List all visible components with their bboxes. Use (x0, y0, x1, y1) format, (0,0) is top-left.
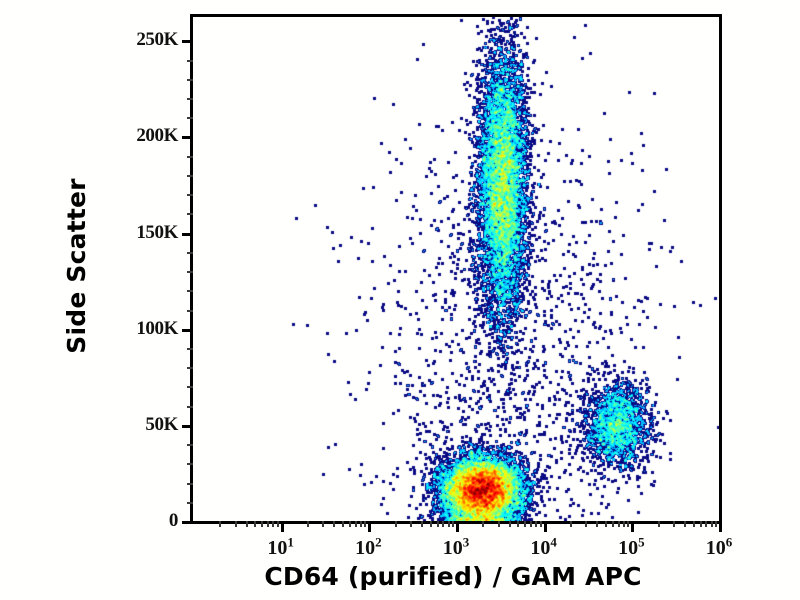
y-tick-minor (187, 98, 193, 100)
x-tick-minor (596, 521, 598, 527)
x-tick-minor (410, 521, 412, 527)
x-tick-minor (711, 521, 713, 527)
x-tick-minor (349, 521, 351, 527)
x-tick-minor (277, 521, 279, 527)
y-tick-label: 200K (136, 125, 178, 147)
y-tick-major (182, 136, 193, 139)
x-tick-minor (482, 521, 484, 527)
y-tick-major (182, 233, 193, 236)
x-tick-minor (715, 521, 717, 527)
x-tick-mantissa: 10 (355, 537, 375, 559)
y-tick-major (182, 521, 193, 524)
x-tick-minor (693, 521, 695, 527)
y-tick-minor (187, 60, 193, 62)
x-tick-minor (267, 521, 269, 527)
y-tick-minor (187, 213, 193, 215)
x-tick-minor (442, 521, 444, 527)
x-tick-major (456, 521, 459, 532)
x-tick-label: 102 (355, 537, 382, 560)
x-tick-major (719, 521, 722, 532)
y-tick-major (182, 425, 193, 428)
x-tick-minor (684, 521, 686, 527)
x-tick-minor (517, 521, 519, 527)
x-tick-minor (605, 521, 607, 527)
y-tick-major (182, 40, 193, 43)
x-tick-minor (261, 521, 263, 527)
scatter-canvas (193, 17, 719, 521)
x-tick-label: 101 (267, 537, 294, 560)
x-tick-minor (254, 521, 256, 527)
x-tick-exponent: 5 (638, 534, 645, 549)
x-tick-minor (307, 521, 309, 527)
y-tick-minor (187, 271, 193, 273)
y-tick-label: 100K (136, 318, 178, 340)
x-tick-minor (700, 521, 702, 527)
x-tick-minor (395, 521, 397, 527)
y-tick-minor (187, 406, 193, 408)
y-tick-label: 0 (169, 510, 178, 532)
x-tick-mantissa: 10 (267, 537, 287, 559)
x-tick-major (281, 521, 284, 532)
x-tick-minor (246, 521, 248, 527)
x-tick-minor (355, 521, 357, 527)
x-tick-minor (524, 521, 526, 527)
x-tick-exponent: 4 (550, 534, 557, 549)
y-tick-major (182, 329, 193, 332)
x-tick-minor (430, 521, 432, 527)
y-tick-label: 50K (145, 414, 178, 436)
y-tick-label: 250K (136, 29, 178, 51)
x-tick-major (544, 521, 547, 532)
y-tick-minor (187, 310, 193, 312)
x-tick-minor (673, 521, 675, 527)
x-tick-minor (342, 521, 344, 527)
x-tick-minor (618, 521, 620, 527)
x-tick-major (368, 521, 371, 532)
x-tick-minor (322, 521, 324, 527)
x-tick-exponent: 1 (287, 534, 294, 549)
x-tick-minor (437, 521, 439, 527)
y-tick-label: 150K (136, 222, 178, 244)
x-tick-exponent: 2 (375, 534, 382, 549)
y-tick-minor (187, 348, 193, 350)
x-tick-minor (235, 521, 237, 527)
x-tick-minor (705, 521, 707, 527)
flow-cytometry-figure: 050K100K150K200K250K 101102103104105106 … (0, 0, 800, 600)
x-tick-mantissa: 10 (706, 537, 726, 559)
y-tick-minor (187, 156, 193, 158)
y-tick-minor (187, 79, 193, 81)
plot-area: 050K100K150K200K250K 101102103104105106 (190, 14, 722, 524)
y-tick-minor (187, 194, 193, 196)
x-tick-minor (421, 521, 423, 527)
x-tick-minor (452, 521, 454, 527)
x-tick-minor (219, 521, 221, 527)
y-tick-minor (187, 367, 193, 369)
x-tick-minor (570, 521, 572, 527)
y-axis-title: Side Scatter (62, 14, 102, 518)
y-tick-minor (187, 502, 193, 504)
x-tick-minor (272, 521, 274, 527)
x-tick-minor (530, 521, 532, 527)
x-tick-label: 103 (443, 537, 470, 560)
y-tick-minor (187, 444, 193, 446)
x-tick-minor (658, 521, 660, 527)
x-tick-label: 105 (618, 537, 645, 560)
y-tick-minor (187, 252, 193, 254)
x-tick-label: 106 (706, 537, 733, 560)
x-tick-mantissa: 10 (530, 537, 550, 559)
x-tick-mantissa: 10 (443, 537, 463, 559)
x-tick-minor (509, 521, 511, 527)
x-tick-minor (585, 521, 587, 527)
x-tick-minor (623, 521, 625, 527)
x-tick-minor (627, 521, 629, 527)
x-tick-exponent: 3 (463, 534, 470, 549)
x-tick-minor (535, 521, 537, 527)
x-tick-major (631, 521, 634, 532)
x-tick-minor (360, 521, 362, 527)
x-tick-exponent: 6 (726, 534, 733, 549)
y-tick-minor (187, 290, 193, 292)
y-tick-minor (187, 117, 193, 119)
x-tick-mantissa: 10 (618, 537, 638, 559)
y-tick-minor (187, 175, 193, 177)
x-axis-title: CD64 (purified) / GAM APC (190, 562, 716, 591)
x-tick-minor (498, 521, 500, 527)
x-tick-minor (333, 521, 335, 527)
x-tick-label: 104 (530, 537, 557, 560)
x-tick-minor (364, 521, 366, 527)
y-tick-minor (187, 463, 193, 465)
x-tick-minor (612, 521, 614, 527)
x-tick-minor (448, 521, 450, 527)
y-tick-minor (187, 386, 193, 388)
x-tick-minor (540, 521, 542, 527)
y-tick-minor (187, 483, 193, 485)
